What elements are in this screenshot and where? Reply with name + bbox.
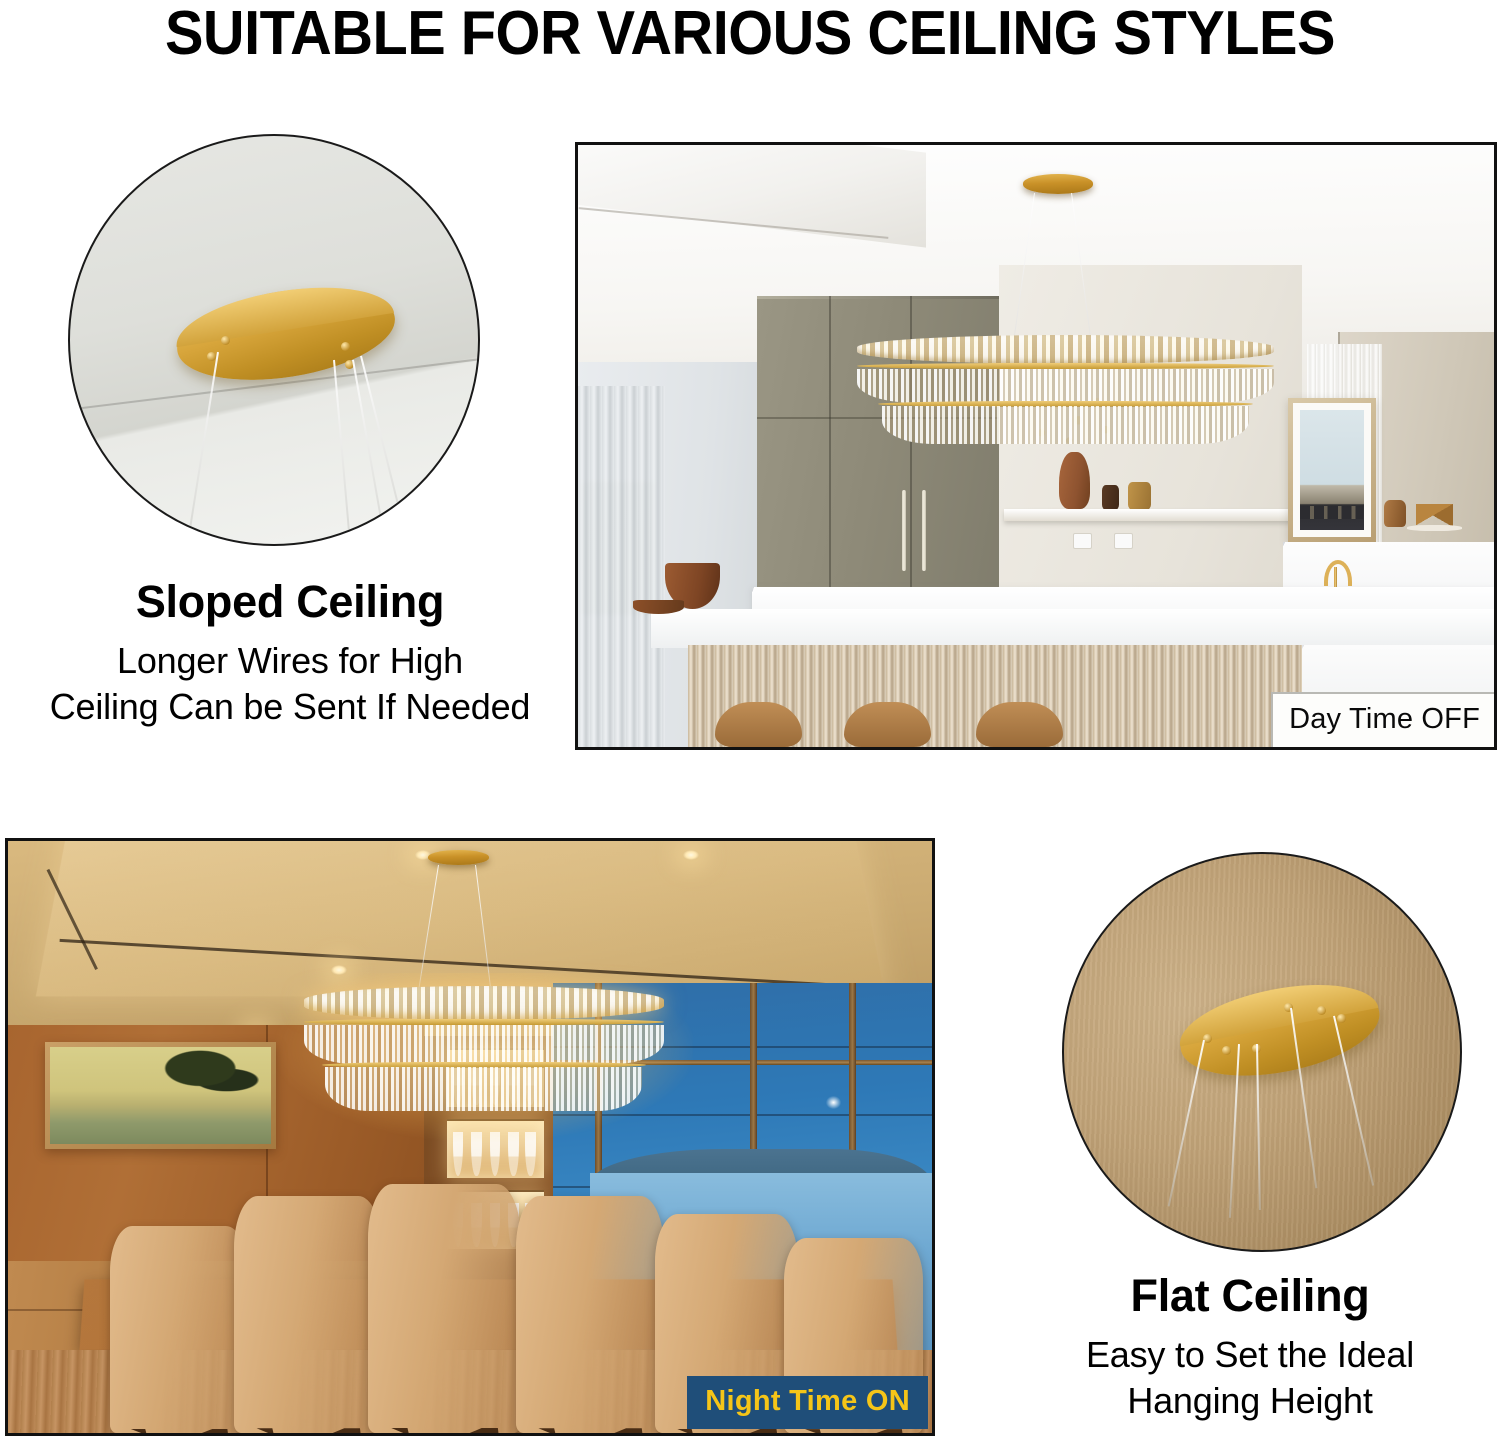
sloped-ceiling-caption-line1: Longer Wires for High [0,639,580,683]
bar-stool [844,702,931,747]
artwork-detail [1300,506,1363,519]
floating-shelf [1004,509,1297,520]
framed-artwork [1288,398,1376,542]
canopy-screw [207,352,216,361]
wine-glass [471,1132,482,1177]
wooden-plate [633,600,684,614]
flat-ceiling-caption-line2: Hanging Height [1000,1379,1500,1423]
recessed-downlight [683,850,699,860]
chandelier-crystal-band [857,335,1274,365]
landscape-artwork [45,1042,276,1149]
chandelier-crystal-band [304,986,664,1020]
suspension-wire [186,352,218,546]
lit-glass-shelf [447,1119,544,1178]
wall-outlet [1073,533,1092,549]
canopy-rim [171,274,395,347]
cabinet-handle [902,490,906,571]
page-title: SUITABLE FOR VARIOUS CEILING STYLES [53,2,1448,65]
flat-ceiling-photo [1062,852,1462,1252]
suspension-wire [333,360,351,546]
dining-chair [516,1196,664,1433]
kitchen-daytime-photo: Day Time OFF [575,142,1497,750]
wine-glass [490,1132,501,1177]
small-brass-pot [1128,482,1152,510]
island-countertop [651,609,1494,648]
sloped-ceiling-caption-line2: Ceiling Can be Sent If Needed [0,685,580,729]
flat-ceiling-heading: Flat Ceiling [1000,1272,1500,1321]
cabinet-top-edge [757,296,1000,299]
crystal-chandelier-off [857,335,1274,449]
flat-ceiling-text-block: Flat Ceiling Easy to Set the Ideal Hangi… [1000,1272,1500,1422]
flat-ceiling-caption-line1: Easy to Set the Ideal [1000,1333,1500,1377]
small-dark-pot [1102,485,1119,510]
wine-glass [508,1132,519,1177]
day-time-off-badge: Day Time OFF [1271,692,1494,747]
sloped-ceiling-text-block: Sloped Ceiling Longer Wires for High Cei… [0,578,580,728]
dining-chair [234,1196,382,1433]
wine-glass [453,1132,464,1177]
dining-chair [110,1226,249,1433]
chandelier-tier [304,1025,664,1064]
terracotta-vase [1059,452,1090,509]
dining-room-nighttime-photo: Night Time ON [5,838,935,1436]
canopy-screw [221,336,230,345]
left-sheer-curtain [578,386,665,747]
shelf-pot [1384,500,1406,526]
night-time-on-badge: Night Time ON [687,1376,928,1429]
chandelier-gold-rim [304,1019,664,1026]
chandelier-tier [325,1067,642,1111]
decor-cones [1416,504,1453,527]
wine-glass [525,1132,536,1177]
exterior-light-glow [826,1096,841,1109]
wall-outlet [1114,533,1133,549]
gold-canopy-oval [171,274,402,393]
ceiling-bevel [575,142,926,248]
chandelier-tier [857,369,1274,403]
crystal-chandelier-on [304,986,664,1116]
dining-chair [368,1184,520,1433]
sloped-ceiling-heading: Sloped Ceiling [0,578,580,627]
cabinet-handle [922,490,926,571]
ceiling-canopy [1023,174,1093,194]
artwork-image [50,1047,271,1144]
infographic-page: SUITABLE FOR VARIOUS CEILING STYLES Slop… [0,0,1500,1440]
chandelier-tier [882,406,1249,445]
sloped-ceiling-photo [68,134,480,546]
artwork-image [1300,410,1364,530]
artwork-mat [1293,403,1371,537]
